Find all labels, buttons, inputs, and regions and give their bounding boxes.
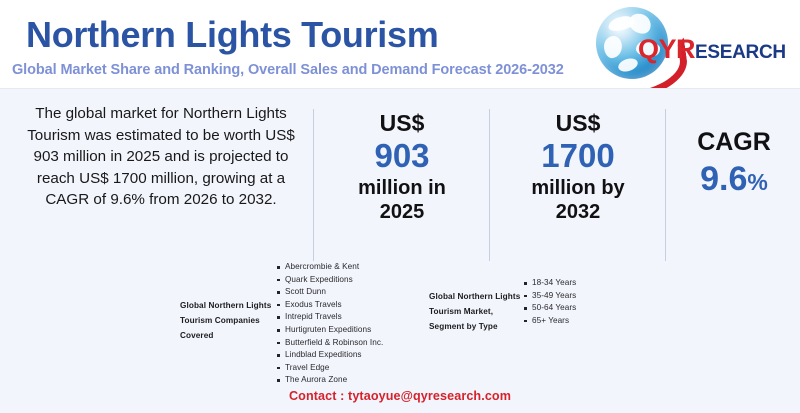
stat-unit-line2: 2032 [498, 200, 658, 224]
list-item: The Aurora Zone [276, 374, 383, 387]
list-item: Travel Edge [276, 362, 383, 375]
list-item: Scott Dunn [276, 286, 383, 299]
body-area: The global market for Northern Lights To… [0, 88, 800, 413]
companies-label-line2: Tourism Companies [180, 313, 276, 328]
companies-label: Global Northern Lights Tourism Companies… [180, 298, 276, 344]
list-item: Lindblad Expeditions [276, 349, 383, 362]
divider-1 [313, 109, 314, 261]
page-title: Northern Lights Tourism [26, 14, 438, 56]
logo-brand-secondary: ESEARCH [695, 42, 786, 63]
list-item: Abercrombie & Kent [276, 261, 383, 274]
segments-label: Global Northern Lights Tourism Market, S… [429, 289, 523, 335]
list-item: 50-64 Years [523, 302, 576, 315]
stat-value: 1700 [498, 137, 658, 176]
cagr-label: CAGR [672, 127, 796, 158]
logo-wordmark: QYRESEARCH [638, 34, 786, 65]
segments-label-line1: Global Northern Lights [429, 289, 523, 304]
stat-market-size-2032: US$ 1700 million by 2032 [498, 111, 658, 224]
qyresearch-logo: QYRESEARCH [586, 4, 796, 82]
market-summary-text: The global market for Northern Lights To… [14, 103, 308, 211]
logo-brand-primary: QYR [638, 34, 695, 64]
list-item: 35-49 Years [523, 290, 576, 303]
list-item: Quark Expeditions [276, 274, 383, 287]
divider-2 [489, 109, 490, 261]
infographic-poster: Northern Lights Tourism Global Market Sh… [0, 0, 800, 413]
stat-cagr: CAGR 9.6% [672, 127, 796, 201]
header: Northern Lights Tourism Global Market Sh… [0, 0, 800, 88]
list-item: 18-34 Years [523, 277, 576, 290]
segments-label-line2: Tourism Market, [429, 304, 523, 319]
cagr-value: 9.6 [700, 160, 747, 198]
companies-list: Abercrombie & Kent Quark Expeditions Sco… [276, 261, 383, 387]
stat-unit-line1: million by [498, 176, 658, 200]
list-item: Butterfield & Robinson Inc. [276, 337, 383, 350]
cagr-unit: % [747, 169, 767, 195]
list-item: Intrepid Travels [276, 311, 383, 324]
segments-list: 18-34 Years 35-49 Years 50-64 Years 65+ … [523, 277, 576, 327]
stat-unit-line1: million in [322, 176, 482, 200]
cagr-value-wrap: 9.6% [672, 158, 796, 201]
divider-3 [665, 109, 666, 261]
segments-label-line3: Segment by Type [429, 319, 523, 334]
stat-value: 903 [322, 137, 482, 176]
contact-line[interactable]: Contact : tytaoyue@qyresearch.com [0, 389, 800, 403]
stat-currency-label: US$ [498, 111, 658, 137]
list-item: Hurtigruten Expeditions [276, 324, 383, 337]
stat-unit-line2: 2025 [322, 200, 482, 224]
page-subtitle: Global Market Share and Ranking, Overall… [12, 62, 564, 78]
stat-market-size-2025: US$ 903 million in 2025 [322, 111, 482, 224]
list-item: 65+ Years [523, 315, 576, 328]
companies-label-line1: Global Northern Lights [180, 298, 276, 313]
stat-currency-label: US$ [322, 111, 482, 137]
companies-label-line3: Covered [180, 328, 276, 343]
list-item: Exodus Travels [276, 299, 383, 312]
